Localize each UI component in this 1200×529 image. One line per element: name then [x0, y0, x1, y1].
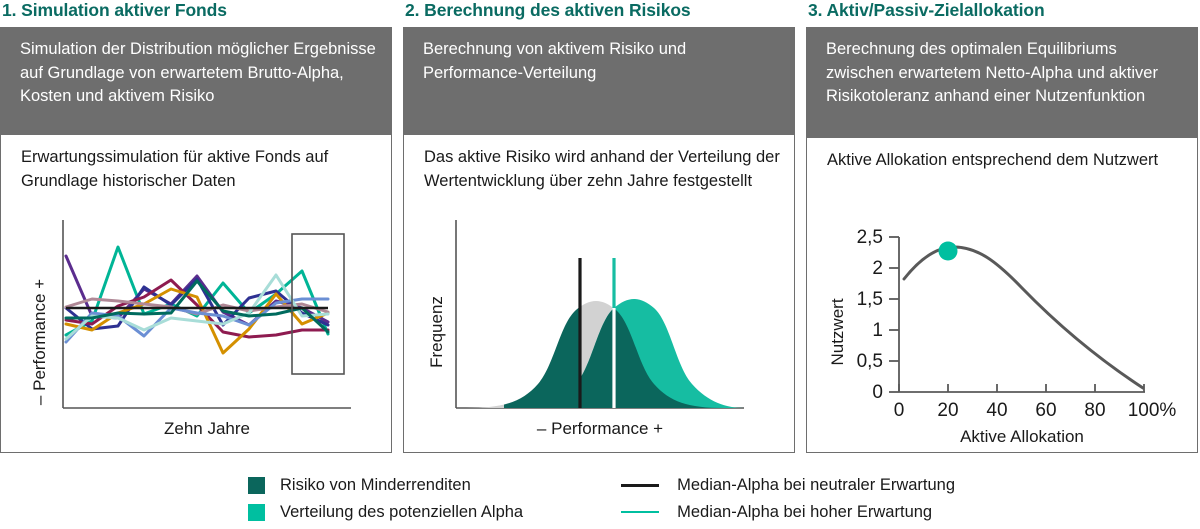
x-tick-80: 80	[1084, 400, 1105, 421]
series-group	[66, 247, 328, 353]
legend-label-median-hoch: Median-Alpha bei hoher Erwartung	[677, 503, 932, 522]
panel-3-caption: Aktive Allokation entsprechend dem Nutzw…	[807, 138, 1197, 173]
panel-3-x-axis-label: Aktive Allokation	[960, 427, 1084, 446]
utility-chart-svg: Nutzwert 2,5 2 1,5 1 0,5 0	[807, 220, 1199, 452]
infographic-page: 1. Simulation aktiver Fonds Simulation d…	[0, 0, 1200, 529]
y-tick-labels: 2,5 2 1,5 1 0,5 0	[857, 227, 883, 403]
panel-1: 1. Simulation aktiver Fonds Simulation d…	[0, 0, 392, 453]
legend-label-risiko-minderrenditen: Risiko von Minderrenditen	[280, 476, 471, 495]
optimum-marker[interactable]	[939, 242, 958, 261]
panel-3: 3. Aktiv/Passiv-Zielallokation Berechnun…	[806, 0, 1198, 453]
panel-1-title: 1. Simulation aktiver Fonds	[0, 0, 392, 20]
panel-1-x-axis-label: Zehn Jahre	[164, 419, 250, 438]
panel-1-caption: Erwartungssimulation für aktive Fonds au…	[1, 135, 391, 193]
panel-2-caption: Das aktive Risiko wird anhand der Vertei…	[404, 135, 794, 193]
legend-item-verteilung-alpha: Verteilung des potenziellen Alpha	[248, 501, 523, 523]
panel-2-y-axis-label: Frequenz	[427, 296, 446, 368]
overlap-left-tail-group	[504, 212, 580, 408]
x-tick-labels: 0 20 40 60 80 100%	[894, 400, 1177, 421]
legend-item-median-neutral: Median-Alpha bei neutraler Erwartung	[621, 474, 955, 496]
y-tick-0-5: 0,5	[857, 351, 883, 372]
legend-rule-teal	[621, 511, 659, 513]
legend-label-median-neutral: Median-Alpha bei neutraler Erwartung	[677, 476, 955, 495]
legend-item-median-hoch: Median-Alpha bei hoher Erwartung	[621, 501, 955, 523]
panel-3-chart: Nutzwert 2,5 2 1,5 1 0,5 0	[807, 220, 1197, 452]
risk-left-tail	[504, 212, 580, 408]
y-tick-2-5: 2,5	[857, 227, 883, 248]
x-tick-marks	[899, 384, 1144, 392]
x-tick-60: 60	[1035, 400, 1056, 421]
distribution-chart-svg: Frequenz	[404, 212, 796, 452]
panel-1-y-axis-label: – Performance +	[30, 279, 49, 405]
y-tick-1: 1	[872, 320, 883, 341]
x-tick-0: 0	[894, 400, 905, 421]
legend-swatch-bright-teal	[248, 504, 265, 521]
panel-2-x-axis-label: – Performance +	[537, 419, 663, 438]
panel-1-chart: – Performance +	[1, 212, 391, 452]
panel-2-title: 2. Berechnung des aktiven Risikos	[403, 0, 795, 20]
panel-2-chart: Frequenz	[404, 212, 794, 452]
y-tick-1-5: 1,5	[857, 289, 883, 310]
panel-3-body: Aktive Allokation entsprechend dem Nutzw…	[806, 138, 1198, 453]
x-tick-100: 100%	[1128, 400, 1177, 421]
y-tick-2: 2	[872, 258, 883, 279]
spaghetti-chart-svg: – Performance +	[1, 212, 393, 452]
utility-curve	[904, 247, 1143, 388]
legend-label-verteilung-alpha: Verteilung des potenziellen Alpha	[280, 503, 523, 522]
legend-rule-black	[621, 484, 659, 487]
legend-column-right: Median-Alpha bei neutraler Erwartung Med…	[621, 474, 955, 523]
panel-3-y-axis-label: Nutzwert	[828, 298, 847, 365]
legend-column-left: Risiko von Minderrenditen Verteilung des…	[248, 474, 523, 523]
panel-2-body: Das aktive Risiko wird anhand der Vertei…	[403, 135, 795, 453]
legend-item-risiko-minderrenditen: Risiko von Minderrenditen	[248, 474, 523, 496]
panel-2-banner: Berechnung von aktivem Risiko und Perfor…	[403, 27, 795, 135]
x-tick-40: 40	[986, 400, 1007, 421]
x-tick-20: 20	[937, 400, 958, 421]
panel-3-banner: Berechnung des optimalen Equilibriums zw…	[806, 27, 1198, 138]
legend-swatch-dark-teal	[248, 477, 265, 494]
panel-1-banner: Simulation der Distribution möglicher Er…	[0, 27, 392, 135]
y-tick-marks	[889, 237, 899, 392]
legend: Risiko von Minderrenditen Verteilung des…	[248, 474, 955, 523]
panel-1-body: Erwartungssimulation für aktive Fonds au…	[0, 135, 392, 453]
panel-3-title: 3. Aktiv/Passiv-Zielallokation	[806, 0, 1198, 20]
y-tick-0: 0	[872, 382, 883, 403]
panel-2: 2. Berechnung des aktiven Risikos Berech…	[403, 0, 795, 453]
